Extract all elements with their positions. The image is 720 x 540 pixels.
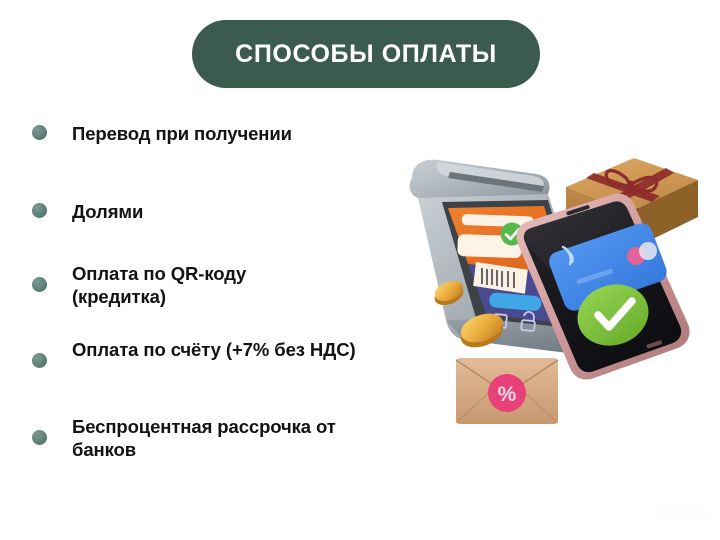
list-item: Долями — [32, 200, 143, 223]
bullet-dot-icon — [32, 353, 47, 368]
avito-watermark-label: Avito — [654, 499, 708, 526]
bullet-dot-icon — [32, 430, 47, 445]
svg-text:%: % — [498, 383, 517, 406]
list-item: Оплата по счёту (+7% без НДС) — [32, 338, 382, 368]
bullet-dot-icon — [32, 277, 47, 292]
page-title: СПОСОБЫ ОПЛАТЫ — [235, 40, 497, 69]
bullet-dot-icon — [32, 203, 47, 218]
discount-envelope: % — [456, 358, 558, 424]
list-item: Перевод при получении — [32, 122, 292, 145]
list-item-label: Долями — [72, 200, 143, 223]
bullet-dot-icon — [32, 125, 47, 140]
list-item-label: Оплата по QR-коду (кредитка) — [72, 262, 317, 309]
list-item: Оплата по QR-коду (кредитка) — [32, 262, 332, 309]
list-item-label: Беспроцентная рассрочка от банков — [72, 415, 392, 462]
avito-logo-icon — [625, 501, 649, 525]
header-banner: СПОСОБЫ ОПЛАТЫ — [192, 20, 540, 88]
list-item-label: Оплата по счёту (+7% без НДС) — [72, 338, 377, 361]
payment-illustration: % — [398, 140, 708, 430]
list-item: Беспроцентная рассрочка от банков — [32, 415, 392, 462]
avito-watermark: Avito — [625, 499, 708, 526]
list-item-label: Перевод при получении — [72, 122, 292, 145]
